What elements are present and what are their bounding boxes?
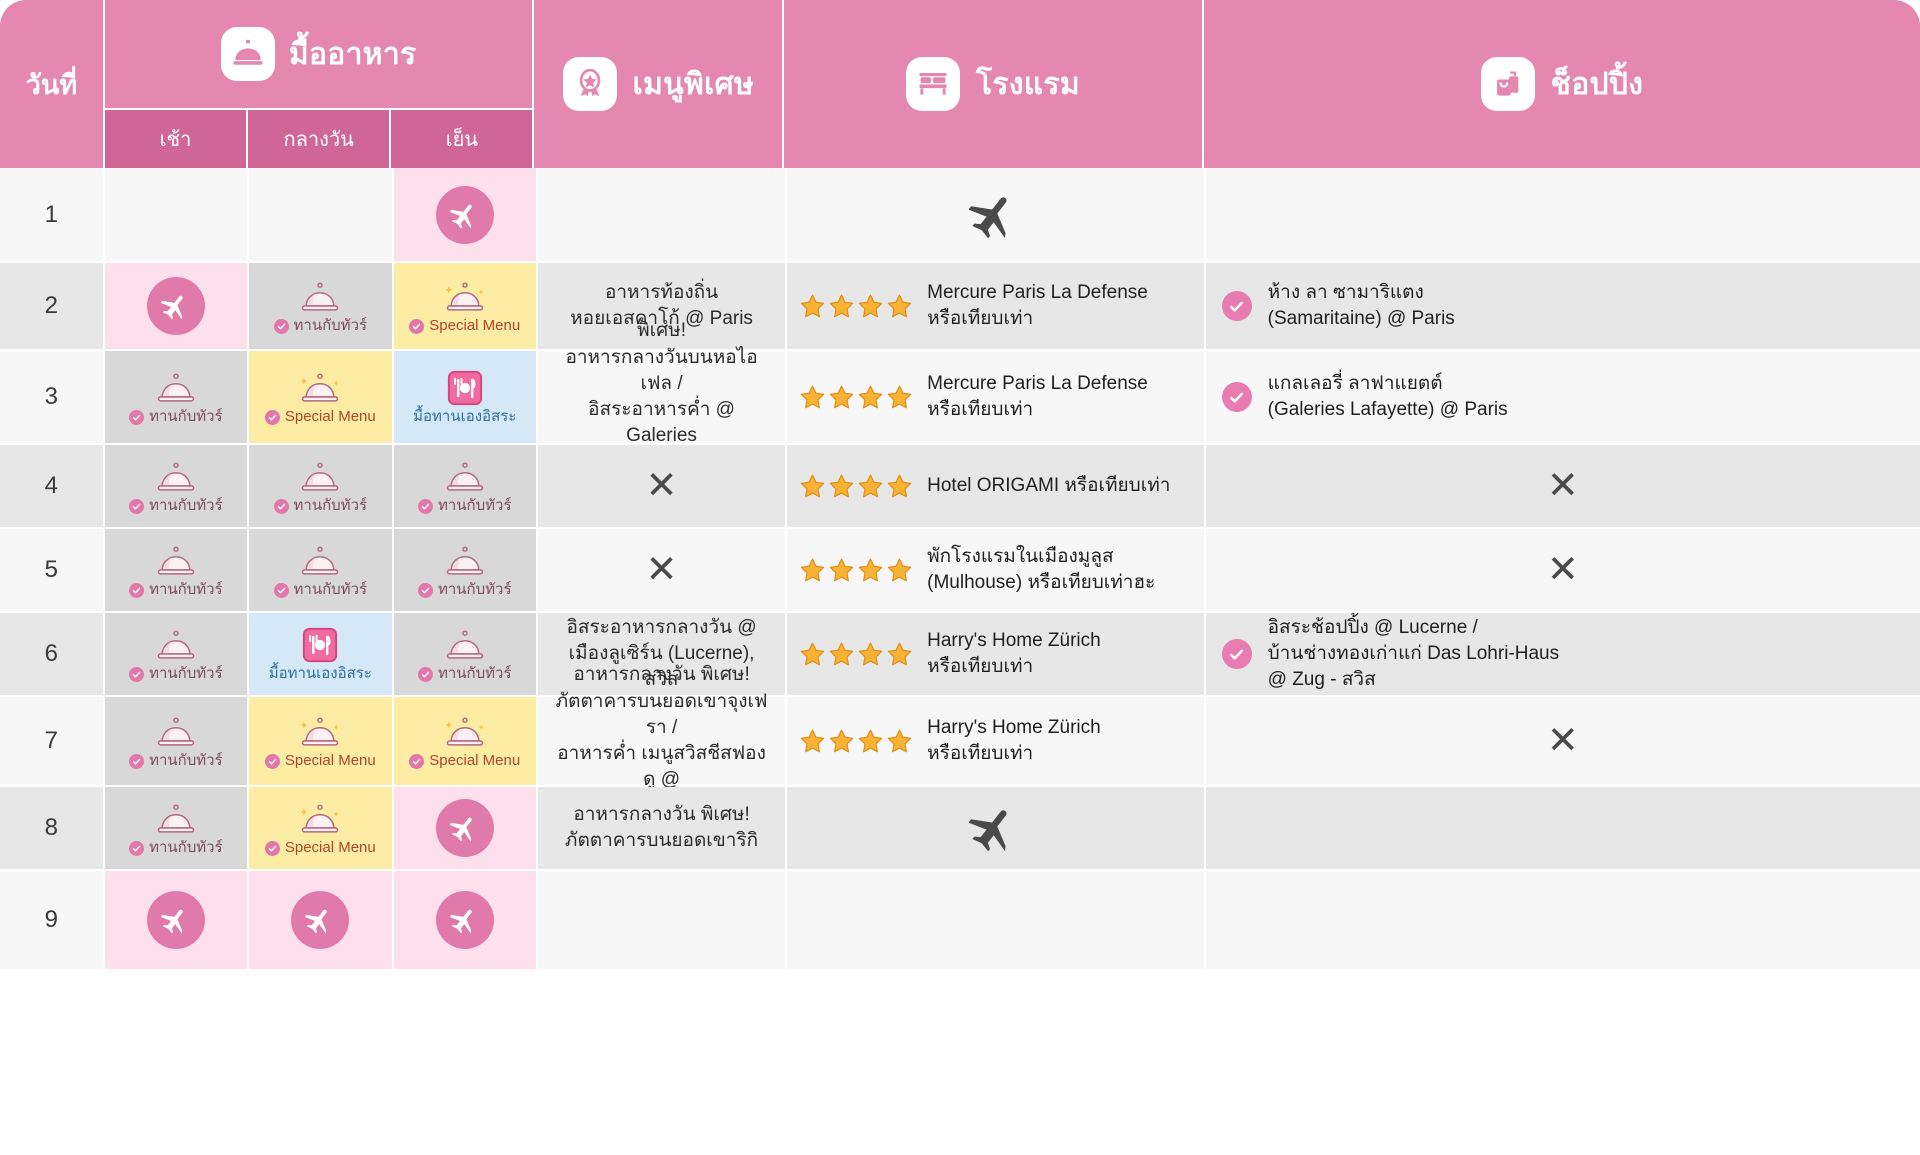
- cloche-icon: [153, 542, 199, 580]
- meal-cell-flight-breakfast: [105, 263, 249, 351]
- shopping-cell: ✕: [1206, 445, 1920, 529]
- airplane-icon: [147, 891, 205, 949]
- cloche-sparkle-icon: [442, 278, 488, 316]
- special-menu-cell: พิเศษ!อาหารกลางวันบนหอไอเฟล /อิสระอาหารค…: [538, 351, 787, 445]
- day-number-cell: 4: [0, 445, 105, 529]
- cloche-icon: [442, 542, 488, 580]
- special-menu-cell: ✕: [538, 445, 787, 529]
- meal-cell-tour-breakfast: ทานกับทัวร์: [105, 445, 249, 529]
- table-row: 4ทานกับทัวร์ทานกับทัวร์ทานกับทัวร์✕Hotel…: [0, 445, 1920, 529]
- meal-cell-free-lunch: มื้อทานเองอิสระ: [249, 613, 393, 697]
- meal-cell-flight-lunch: [249, 871, 393, 971]
- hotel-name-text: Hotel ORIGAMI หรือเทียบเท่า: [927, 473, 1170, 499]
- room-service-bell-icon: [221, 27, 275, 81]
- cloche-icon: [297, 458, 343, 496]
- meal-label: มื้อทานเองอิสระ: [413, 409, 516, 426]
- star-rating: [799, 384, 913, 411]
- hotel-name-text: Harry's Home Zürichหรือเทียบเท่า: [927, 715, 1101, 766]
- bed-icon: [906, 57, 960, 111]
- cloche-icon: [442, 626, 488, 664]
- meal-label: ทานกับทัวร์: [129, 753, 223, 770]
- day-number-cell: 1: [0, 168, 105, 263]
- meal-cell-tour-dinner: ทานกับทัวร์: [394, 613, 538, 697]
- cloche-icon: [153, 713, 199, 751]
- meal-cell-flight-breakfast: [105, 871, 249, 971]
- star-rating: [799, 473, 913, 500]
- star-rating: [799, 293, 913, 320]
- meal-label: Special Menu: [409, 318, 520, 335]
- check-icon: [418, 499, 433, 514]
- header-day-label: วันที่: [0, 0, 105, 168]
- hotel-cell: [787, 787, 1206, 871]
- day-number-cell: 9: [0, 871, 105, 971]
- check-icon: [409, 754, 424, 769]
- hotel-cell: Mercure Paris La Defenseหรือเทียบเท่า: [787, 351, 1206, 445]
- header-col-shopping: ช็อปปิ้ง: [1204, 0, 1920, 168]
- restaurant-plate-icon: [446, 369, 484, 407]
- check-icon: [129, 667, 144, 682]
- table-row: 8ทานกับทัวร์Special Menuอาหารกลางวัน พิเ…: [0, 787, 1920, 871]
- shopping-text: ห้าง ลา ซามาริแตง(Samaritaine) @ Paris: [1268, 280, 1455, 332]
- day-number-cell: 5: [0, 529, 105, 613]
- cross-icon: ✕: [1547, 722, 1579, 760]
- check-icon: [265, 841, 280, 856]
- meal-cell-special-dinner: Special Menu: [394, 263, 538, 351]
- check-icon: [409, 319, 424, 334]
- cross-icon: ✕: [1547, 467, 1579, 505]
- cross-icon: ✕: [1547, 551, 1579, 589]
- hotel-cell: พักโรงแรมในเมืองมูลูส(Mulhouse) หรือเทีย…: [787, 529, 1206, 613]
- meal-cell-special-dinner: Special Menu: [394, 697, 538, 787]
- meal-cell-flight-dinner: [394, 168, 538, 263]
- hotel-name-text: พักโรงแรมในเมืองมูลูส(Mulhouse) หรือเทีย…: [927, 544, 1155, 595]
- cross-icon: ✕: [646, 467, 678, 505]
- meal-label: ทานกับทัวร์: [418, 498, 512, 515]
- table-row: 5ทานกับทัวร์ทานกับทัวร์ทานกับทัวร์✕พักโร…: [0, 529, 1920, 613]
- subheader-dinner: เย็น: [389, 108, 532, 168]
- table-row: 7ทานกับทัวร์Special MenuSpecial Menuอาหา…: [0, 697, 1920, 787]
- table-row: 3ทานกับทัวร์Special Menuมื้อทานเองอิสระพ…: [0, 351, 1920, 445]
- table-row: 2ทานกับทัวร์Special Menuอาหารท้องถิ่นหอย…: [0, 263, 1920, 351]
- meal-cell-flight-dinner: [394, 871, 538, 971]
- table-header: วันที่ มื้ออาหาร เช้า กลางวัน เย็น: [0, 0, 1920, 168]
- meal-cell-flight-dinner: [394, 787, 538, 871]
- star-rating: [799, 557, 913, 584]
- meal-label: ทานกับทัวร์: [274, 582, 368, 599]
- shopping-bag-icon: [1481, 57, 1535, 111]
- special-menu-cell: อาหารกลางวัน พิเศษ!ภัตตาคารบนยอดเขาจุงเฟ…: [538, 697, 787, 787]
- shopping-cell: ✕: [1206, 697, 1920, 787]
- meal-label: ทานกับทัวร์: [129, 666, 223, 683]
- meal-cell-tour-breakfast: ทานกับทัวร์: [105, 787, 249, 871]
- airplane-icon: [436, 799, 494, 857]
- day-number-cell: 2: [0, 263, 105, 351]
- table-body: 12ทานกับทัวร์Special Menuอาหารท้องถิ่นหอ…: [0, 168, 1920, 971]
- check-icon: [274, 319, 289, 334]
- table-row: 1: [0, 168, 1920, 263]
- header-title-special-menu: เมนูพิเศษ: [633, 61, 755, 108]
- day-number-cell: 6: [0, 613, 105, 697]
- cloche-icon: [153, 458, 199, 496]
- special-menu-cell: ✕: [538, 529, 787, 613]
- meal-cell-tour-dinner: ทานกับทัวร์: [394, 445, 538, 529]
- meal-cell-special-lunch: Special Menu: [249, 787, 393, 871]
- hotel-cell: Mercure Paris La Defenseหรือเทียบเท่า: [787, 263, 1206, 351]
- meal-cell-tour-lunch: ทานกับทัวร์: [249, 445, 393, 529]
- meal-label: มื้อทานเองอิสระ: [269, 666, 372, 683]
- cloche-icon: [442, 458, 488, 496]
- meal-label: Special Menu: [265, 409, 376, 426]
- check-icon: [1222, 639, 1252, 669]
- meal-cell-tour-breakfast: ทานกับทัวร์: [105, 697, 249, 787]
- hotel-cell: [787, 871, 1206, 971]
- cloche-icon: [153, 626, 199, 664]
- meal-label: ทานกับทัวร์: [274, 318, 368, 335]
- special-menu-text: อาหารกลางวัน พิเศษ!ภัตตาคารบนยอดเขาริกิ: [565, 802, 758, 854]
- star-rating: [799, 728, 913, 755]
- shopping-cell: แกลเลอรี่ ลาฟาแยตต์(Galeries Lafayette) …: [1206, 351, 1920, 445]
- table-row: 6ทานกับทัวร์มื้อทานเองอิสระทานกับทัวร์อิ…: [0, 613, 1920, 697]
- check-icon: [129, 499, 144, 514]
- cloche-sparkle-icon: [297, 369, 343, 407]
- cloche-sparkle-icon: [297, 713, 343, 751]
- meal-label: ทานกับทัวร์: [129, 582, 223, 599]
- airplane-icon: [436, 891, 494, 949]
- check-icon: [265, 754, 280, 769]
- meal-cell-tour-breakfast: ทานกับทัวร์: [105, 351, 249, 445]
- check-icon: [1222, 382, 1252, 412]
- table-row: 9: [0, 871, 1920, 971]
- cloche-sparkle-icon: [442, 713, 488, 751]
- check-icon: [418, 667, 433, 682]
- check-icon: [418, 583, 433, 598]
- meal-cell-tour-lunch: ทานกับทัวร์: [249, 263, 393, 351]
- meal-cell-special-lunch: Special Menu: [249, 351, 393, 445]
- meal-label: ทานกับทัวร์: [418, 666, 512, 683]
- restaurant-plate-icon: [301, 626, 339, 664]
- day-number-cell: 8: [0, 787, 105, 871]
- meal-cell-tour-lunch: ทานกับทัวร์: [249, 529, 393, 613]
- hotel-cell: Harry's Home Zürichหรือเทียบเท่า: [787, 613, 1206, 697]
- shopping-cell: ✕: [1206, 529, 1920, 613]
- cloche-sparkle-icon: [297, 800, 343, 838]
- meal-cell-empty-lunch: [249, 168, 393, 263]
- meal-cell-empty-breakfast: [105, 168, 249, 263]
- airplane-icon: [147, 277, 205, 335]
- cloche-icon: [153, 369, 199, 407]
- meal-label: ทานกับทัวร์: [274, 498, 368, 515]
- day-number-cell: 3: [0, 351, 105, 445]
- meal-label: ทานกับทัวร์: [129, 840, 223, 857]
- airplane-icon: [969, 802, 1021, 854]
- header-col-meal: มื้ออาหาร เช้า กลางวัน เย็น: [105, 0, 535, 168]
- check-icon: [274, 499, 289, 514]
- meal-cell-tour-breakfast: ทานกับทัวร์: [105, 613, 249, 697]
- header-title-meal: มื้ออาหาร: [289, 31, 417, 78]
- meal-label: ทานกับทัวร์: [129, 498, 223, 515]
- check-icon: [129, 410, 144, 425]
- special-menu-cell: [538, 168, 787, 263]
- shopping-text: อิสระช้อปปิ้ง @ Lucerne /บ้านช่างทองเก่า…: [1268, 615, 1559, 694]
- star-rating: [799, 641, 913, 668]
- cross-icon: ✕: [646, 551, 678, 589]
- check-icon: [129, 841, 144, 856]
- meal-label: ทานกับทัวร์: [418, 582, 512, 599]
- header-col-special-menu: เมนูพิเศษ: [534, 0, 784, 168]
- award-ribbon-icon: [563, 57, 617, 111]
- header-title-shopping: ช็อปปิ้ง: [1551, 61, 1644, 108]
- shopping-text: แกลเลอรี่ ลาฟาแยตต์(Galeries Lafayette) …: [1268, 371, 1508, 423]
- hotel-name-text: Mercure Paris La Defenseหรือเทียบเท่า: [927, 280, 1148, 331]
- check-icon: [274, 583, 289, 598]
- hotel-cell: Harry's Home Zürichหรือเทียบเท่า: [787, 697, 1206, 787]
- cloche-icon: [297, 542, 343, 580]
- airplane-icon: [436, 186, 494, 244]
- airplane-icon: [969, 189, 1021, 241]
- shopping-cell: อิสระช้อปปิ้ง @ Lucerne /บ้านช่างทองเก่า…: [1206, 613, 1920, 697]
- check-icon: [129, 754, 144, 769]
- header-title-hotel: โรงแรม: [976, 61, 1080, 108]
- special-menu-cell: อาหารกลางวัน พิเศษ!ภัตตาคารบนยอดเขาริกิ: [538, 787, 787, 871]
- check-icon: [1222, 291, 1252, 321]
- meal-cell-special-lunch: Special Menu: [249, 697, 393, 787]
- check-icon: [265, 410, 280, 425]
- meal-cell-tour-breakfast: ทานกับทัวร์: [105, 529, 249, 613]
- airplane-icon: [291, 891, 349, 949]
- subheader-breakfast: เช้า: [105, 108, 246, 168]
- meal-label: ทานกับทัวร์: [129, 409, 223, 426]
- shopping-cell: [1206, 871, 1920, 971]
- meal-label: Special Menu: [409, 753, 520, 770]
- hotel-cell: [787, 168, 1206, 263]
- meal-cell-tour-dinner: ทานกับทัวร์: [394, 529, 538, 613]
- itinerary-table: วันที่ มื้ออาหาร เช้า กลางวัน เย็น: [0, 0, 1920, 1155]
- shopping-cell: [1206, 787, 1920, 871]
- meal-label: Special Menu: [265, 840, 376, 857]
- check-icon: [129, 583, 144, 598]
- shopping-cell: [1206, 168, 1920, 263]
- hotel-name-text: Harry's Home Zürichหรือเทียบเท่า: [927, 628, 1101, 679]
- subheader-lunch: กลางวัน: [246, 108, 389, 168]
- shopping-cell: ห้าง ลา ซามาริแตง(Samaritaine) @ Paris: [1206, 263, 1920, 351]
- day-number-cell: 7: [0, 697, 105, 787]
- hotel-name-text: Mercure Paris La Defenseหรือเทียบเท่า: [927, 371, 1148, 422]
- meal-cell-free-dinner: มื้อทานเองอิสระ: [394, 351, 538, 445]
- hotel-cell: Hotel ORIGAMI หรือเทียบเท่า: [787, 445, 1206, 529]
- special-menu-cell: [538, 871, 787, 971]
- meal-label: Special Menu: [265, 753, 376, 770]
- cloche-icon: [297, 278, 343, 316]
- cloche-icon: [153, 800, 199, 838]
- header-col-hotel: โรงแรม: [784, 0, 1204, 168]
